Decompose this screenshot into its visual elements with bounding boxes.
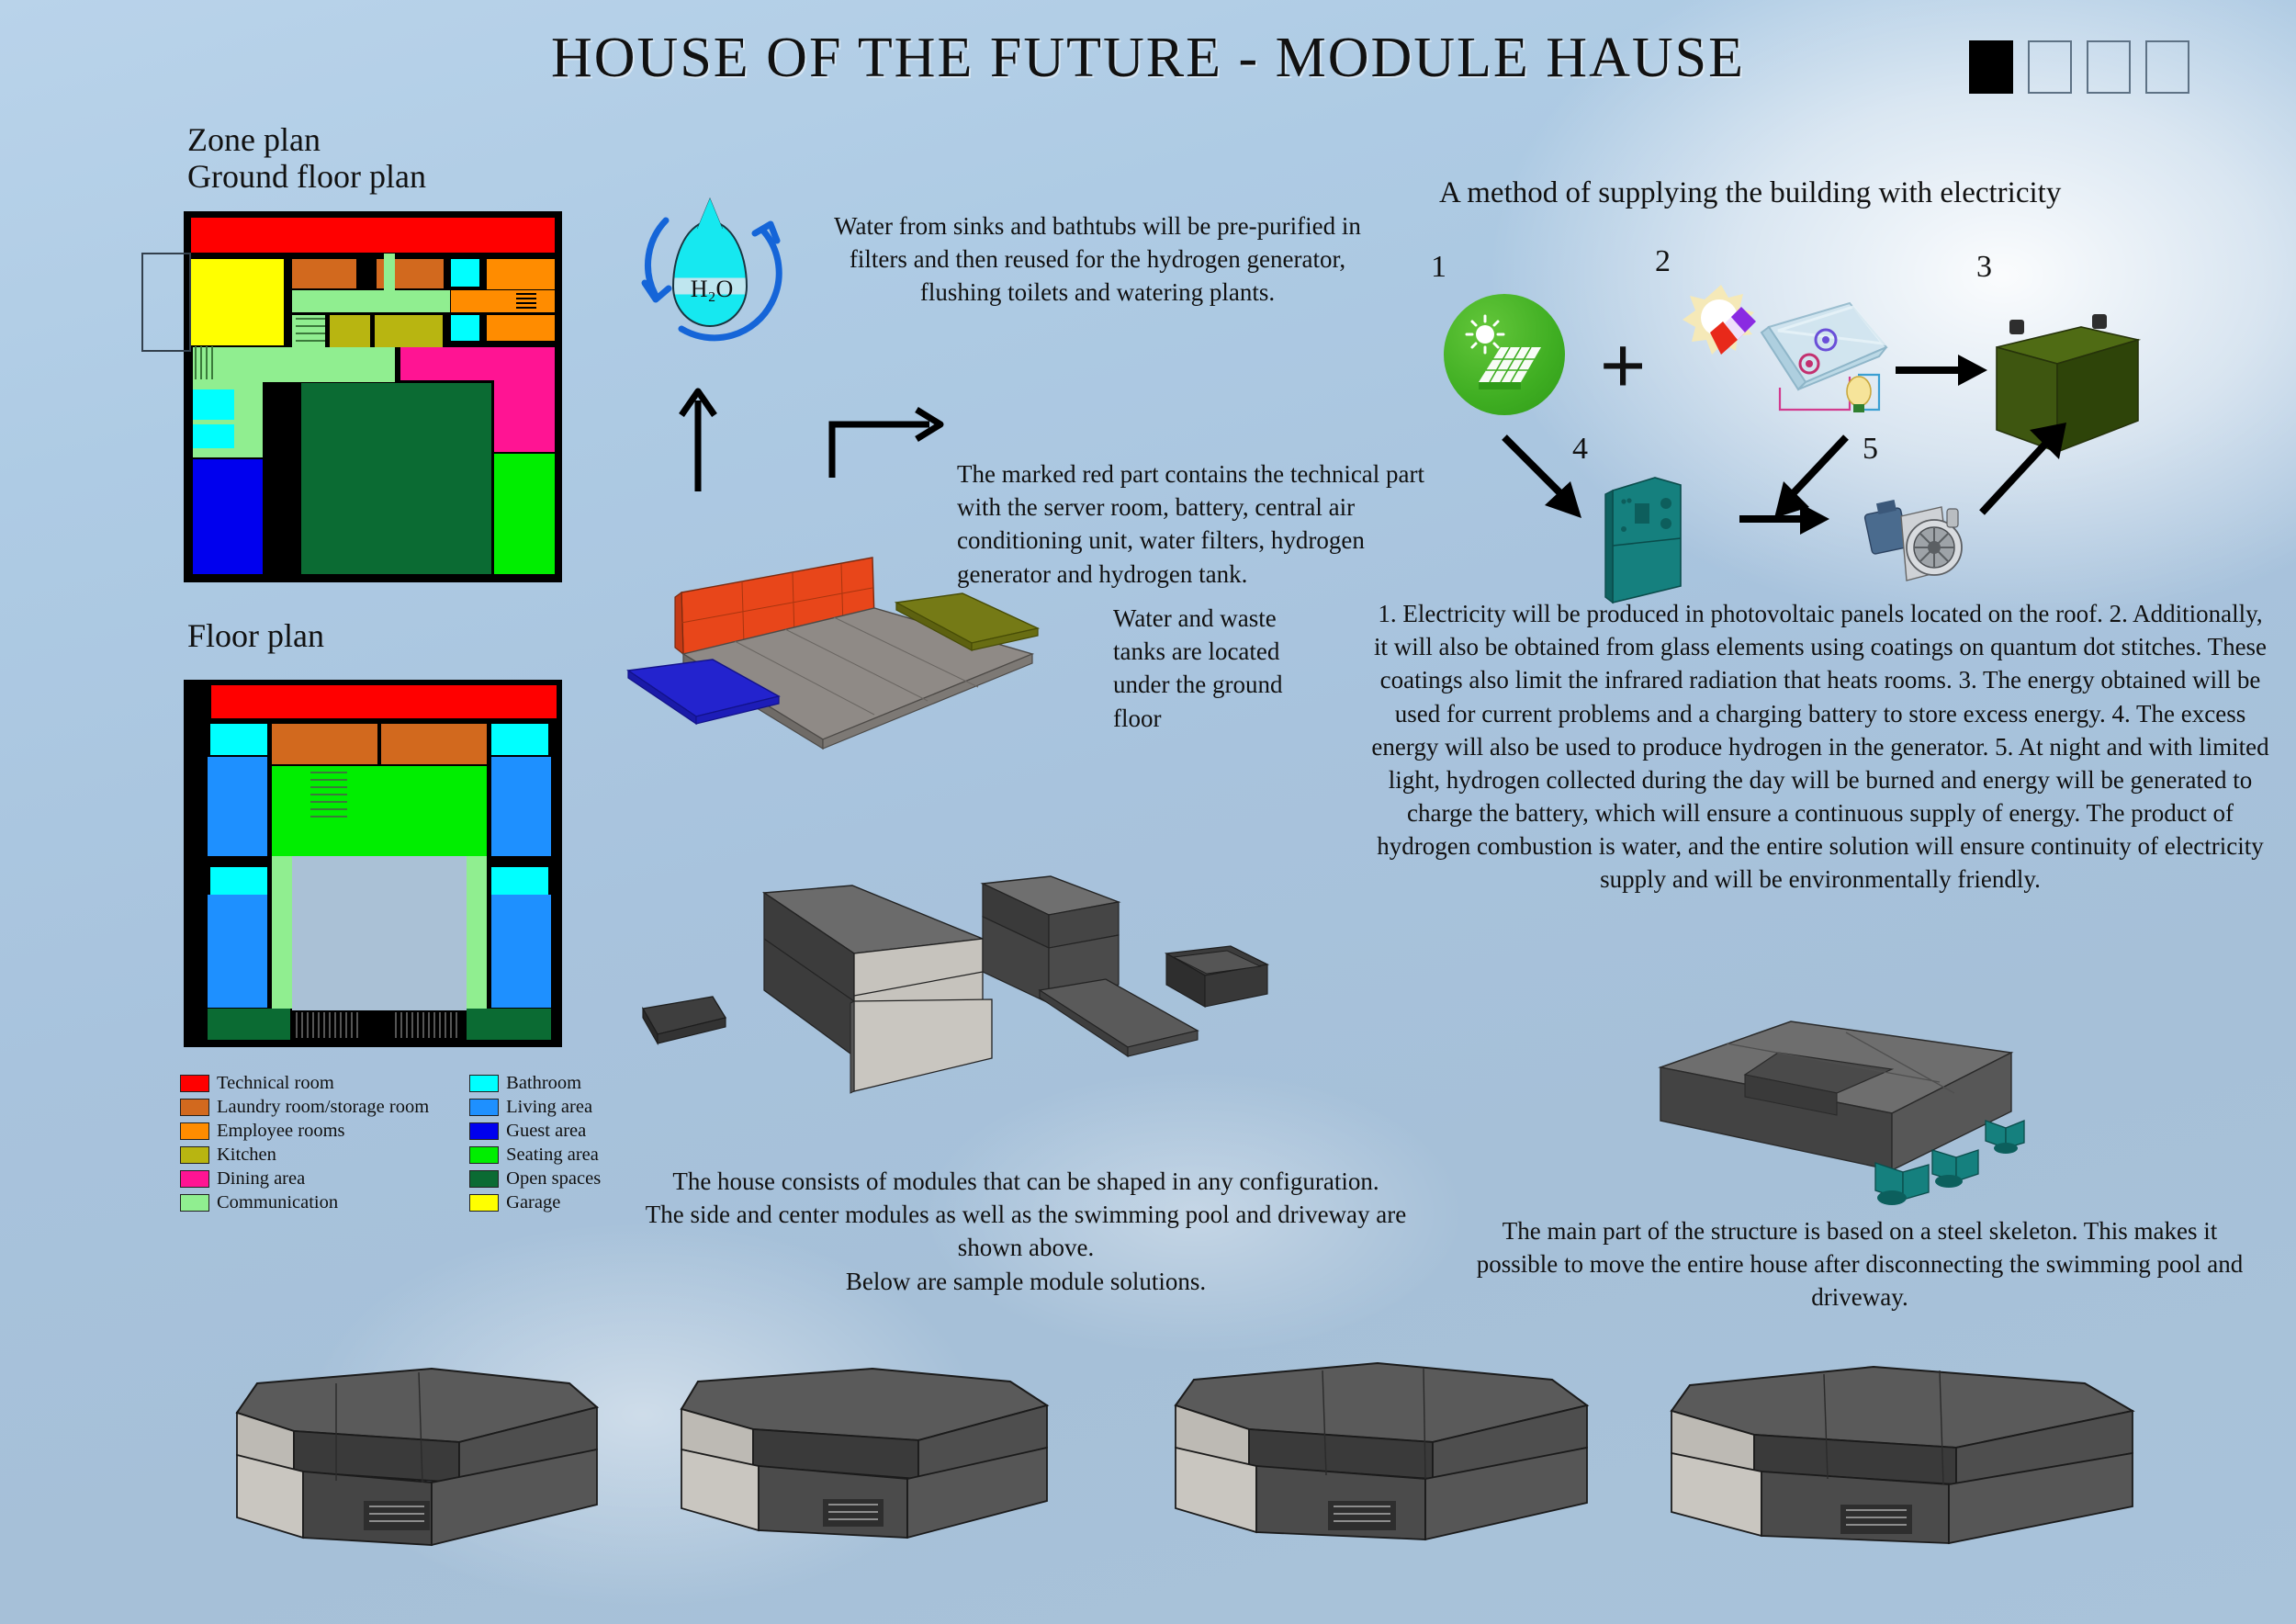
legend-swatch-open-spaces bbox=[469, 1170, 499, 1188]
legend-label: Kitchen bbox=[217, 1145, 276, 1166]
module-solution-1 bbox=[156, 1343, 634, 1563]
legend-item: Dining area bbox=[180, 1168, 429, 1190]
module-solution-3 bbox=[1148, 1341, 1626, 1562]
arrow-generator-to-turbine-icon bbox=[1736, 496, 1837, 542]
step-number-3: 3 bbox=[1976, 250, 1992, 285]
up-arrow-icon bbox=[670, 386, 726, 496]
upper-void-courtyard bbox=[292, 856, 467, 1010]
module-solution-2 bbox=[643, 1348, 1084, 1560]
room-technical bbox=[191, 218, 555, 253]
legend-label: Bathroom bbox=[506, 1073, 581, 1094]
legend-item: Employee rooms bbox=[180, 1121, 429, 1142]
room-dining-2 bbox=[494, 380, 555, 452]
legend-swatch-living-area bbox=[469, 1099, 499, 1116]
room-communication-hall bbox=[193, 347, 395, 382]
legend-column-left: Technical room Laundry room/storage room… bbox=[180, 1073, 429, 1213]
arrow-turbine-to-battery-icon bbox=[1973, 413, 2083, 524]
turbine-motor-icon bbox=[1863, 485, 1991, 604]
legend-item: Living area bbox=[469, 1097, 601, 1118]
window-hatch-ground-left bbox=[195, 346, 213, 379]
page-title: HOUSE OF THE FUTURE - MODULE HAUSE bbox=[0, 26, 2296, 91]
room-bathroom-1 bbox=[451, 259, 479, 287]
room-communication-top bbox=[384, 254, 395, 292]
legend-column-right: Bathroom Living area Guest area Seating … bbox=[469, 1073, 601, 1213]
room-employee-2 bbox=[451, 290, 555, 312]
plus-icon: + bbox=[1600, 326, 1646, 405]
room-dining bbox=[400, 347, 555, 380]
electricity-heading: A method of supplying the building with … bbox=[1439, 176, 2284, 210]
upper-room-living-2 bbox=[491, 757, 551, 856]
skeleton-description-text: The main part of the structure is based … bbox=[1469, 1214, 2250, 1314]
presentation-board: HOUSE OF THE FUTURE - MODULE HAUSE Zone … bbox=[0, 0, 2296, 1624]
upper-room-living-3 bbox=[208, 895, 267, 1008]
upper-room-seating bbox=[272, 766, 487, 856]
upper-room-open-2 bbox=[467, 1009, 551, 1040]
room-kitchen-1 bbox=[330, 315, 370, 347]
water-drop-recycle-icon: H₂O bbox=[625, 193, 799, 377]
steel-skeleton-house-3d-render bbox=[1616, 1001, 2057, 1231]
zone-plan-label: Zone plan bbox=[187, 121, 321, 158]
legend-item: Open spaces bbox=[469, 1168, 601, 1190]
electricity-description-text: 1. Electricity will be produced in photo… bbox=[1370, 597, 2270, 897]
water-waste-tanks-text: Water and waste tanks are located under … bbox=[1113, 602, 1315, 735]
legend-item: Laundry room/storage room bbox=[180, 1097, 429, 1118]
room-seating bbox=[494, 454, 555, 574]
legend-label: Technical room bbox=[217, 1073, 334, 1094]
step-number-1: 1 bbox=[1431, 250, 1446, 285]
hydrogen-generator-icon bbox=[1596, 467, 1706, 614]
legend-swatch-dining-area bbox=[180, 1170, 209, 1188]
upper-room-bathroom-3 bbox=[210, 867, 267, 895]
balcony-hatch-right bbox=[395, 1012, 459, 1038]
room-laundry-1 bbox=[292, 259, 356, 288]
legend-swatch-seating-area bbox=[469, 1146, 499, 1164]
page-indicator-1[interactable] bbox=[1969, 40, 2013, 94]
upper-room-laundry-1 bbox=[272, 724, 377, 764]
legend-label: Open spaces bbox=[506, 1168, 601, 1190]
legend: Technical room Laundry room/storage room… bbox=[180, 1073, 601, 1213]
upper-room-bathroom-1 bbox=[210, 724, 267, 755]
legend-label: Guest area bbox=[506, 1121, 586, 1142]
upper-room-living-4 bbox=[491, 895, 551, 1008]
legend-swatch-kitchen bbox=[180, 1146, 209, 1164]
legend-item: Bathroom bbox=[469, 1073, 601, 1094]
legend-item: Kitchen bbox=[180, 1145, 429, 1166]
legend-item: Seating area bbox=[469, 1145, 601, 1166]
arrow-to-battery-icon bbox=[1892, 347, 1993, 393]
room-kitchen-2 bbox=[375, 315, 443, 347]
upper-room-laundry-2 bbox=[381, 724, 487, 764]
solar-panel-icon bbox=[1444, 294, 1565, 415]
upper-room-bathroom-4 bbox=[491, 867, 548, 895]
room-bathroom-4 bbox=[193, 424, 234, 448]
stairs-upper bbox=[310, 772, 347, 818]
upper-room-living-1 bbox=[208, 757, 267, 856]
upper-room-open-1 bbox=[208, 1009, 290, 1040]
arrow-solar-to-generator-icon bbox=[1497, 430, 1598, 531]
room-communication-corridor bbox=[292, 290, 450, 312]
page-indicator-2[interactable] bbox=[2028, 40, 2072, 94]
legend-label: Living area bbox=[506, 1097, 592, 1118]
module-platform-3d-render bbox=[625, 551, 1084, 827]
legend-swatch-employee-rooms bbox=[180, 1122, 209, 1140]
page-indicator-3[interactable] bbox=[2087, 40, 2131, 94]
legend-label: Seating area bbox=[506, 1145, 599, 1166]
legend-swatch-garage bbox=[469, 1194, 499, 1212]
water-description-text: Water from sinks and bathtubs will be pr… bbox=[831, 209, 1364, 310]
legend-item: Guest area bbox=[469, 1121, 601, 1142]
upper-room-communication-right bbox=[467, 856, 487, 1009]
window-hatch-ground-right bbox=[516, 293, 536, 310]
upper-room-bathroom-2 bbox=[491, 724, 548, 755]
legend-item: Communication bbox=[180, 1192, 429, 1213]
h2o-label: H₂O bbox=[625, 276, 799, 303]
room-garage bbox=[191, 259, 284, 345]
elbow-right-arrow-icon bbox=[827, 386, 955, 487]
room-guest bbox=[193, 459, 263, 574]
modules-description-text: The house consists of modules that can b… bbox=[617, 1165, 1435, 1298]
legend-item: Garage bbox=[469, 1192, 601, 1213]
room-employee-3 bbox=[487, 315, 555, 341]
legend-swatch-technical-room bbox=[180, 1075, 209, 1092]
legend-label: Laundry room/storage room bbox=[217, 1097, 429, 1118]
upper-room-technical bbox=[211, 685, 557, 718]
module-solution-4 bbox=[1644, 1343, 2177, 1563]
legend-label: Garage bbox=[506, 1192, 560, 1213]
legend-swatch-guest-area bbox=[469, 1122, 499, 1140]
room-bathroom-2 bbox=[451, 315, 479, 341]
legend-label: Dining area bbox=[217, 1168, 305, 1190]
solar-panel-glyph bbox=[1444, 294, 1565, 415]
page-indicator-4[interactable] bbox=[2145, 40, 2189, 94]
balcony-hatch-left bbox=[296, 1012, 358, 1038]
legend-swatch-laundry-room bbox=[180, 1099, 209, 1116]
step-number-2: 2 bbox=[1655, 244, 1671, 279]
page-indicator-group bbox=[1969, 40, 2189, 94]
ground-floor-plan-drawing bbox=[184, 211, 562, 582]
upper-floor-plan-drawing bbox=[184, 680, 562, 1047]
stairs-ground bbox=[296, 318, 325, 347]
legend-item: Technical room bbox=[180, 1073, 429, 1094]
legend-swatch-communication bbox=[180, 1194, 209, 1212]
legend-label: Communication bbox=[217, 1192, 338, 1213]
ground-floor-plan-label: Ground floor plan bbox=[187, 158, 426, 195]
room-bathroom-3 bbox=[193, 389, 234, 420]
legend-swatch-bathroom bbox=[469, 1075, 499, 1092]
upper-room-communication-left bbox=[272, 856, 292, 1009]
legend-label: Employee rooms bbox=[217, 1121, 345, 1142]
module-components-3d-render bbox=[625, 863, 1286, 1102]
floor-plan-label: Floor plan bbox=[187, 617, 324, 654]
room-employee-1 bbox=[487, 259, 555, 289]
room-open-space bbox=[301, 383, 491, 574]
